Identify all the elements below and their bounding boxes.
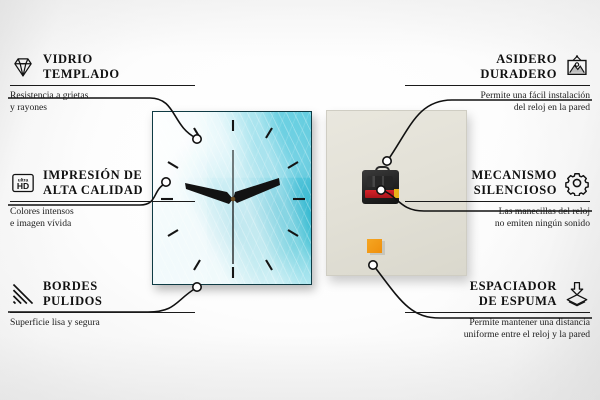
ultra-hd-large-label: HD [17,181,29,191]
feature-vidrio-templado[interactable]: VIDRIO TEMPLADO Resistencia a grietas y … [10,52,195,113]
feature-divider [405,312,590,313]
feature-divider [10,312,195,313]
clock-minute-hand [233,178,280,203]
wall-hanging-picture-icon [564,54,590,80]
feature-divider [10,85,195,86]
feature-asidero-duradero[interactable]: ASIDERO DURADERO Permite una fácil insta… [405,52,590,113]
battery [365,190,396,198]
feature-divider [10,201,195,202]
feature-title: ESPACIADOR DE ESPUMA [470,279,557,308]
feature-divider [405,85,590,86]
arrow-on-layers-icon [564,281,590,307]
feature-title: IMPRESIÓN DE ALTA CALIDAD [43,168,143,197]
gear-icon [564,170,590,196]
mechanism-detail [367,176,393,187]
feature-title: ASIDERO DURADERO [480,52,557,81]
feature-espaciador-de-espuma[interactable]: ESPACIADOR DE ESPUMA Permite mantener un… [405,279,590,340]
feature-title: MECANISMO SILENCIOSO [471,168,557,197]
feature-divider [405,201,590,202]
feature-impresion-alta-calidad[interactable]: ultra HD IMPRESIÓN DE ALTA CALIDAD Color… [10,168,195,229]
clock-center-cap [231,197,236,202]
feature-description: Permite mantener una distancia uniforme … [405,317,590,340]
feature-bordes-pulidos[interactable]: BORDES PULIDOS Superficie lisa y segura [10,279,195,329]
feature-description: Permite una fácil instalación del reloj … [405,90,590,113]
feature-header: ASIDERO DURADERO [405,52,590,81]
feature-description: Superficie lisa y segura [10,317,195,329]
feature-description: Colores intensos e imagen vívida [10,206,195,229]
feature-description: Las manecillas del reloj no emiten ningú… [405,206,590,229]
foam-spacer [367,239,382,253]
diamond-icon [10,54,36,80]
quartz-mechanism [362,166,399,204]
feature-header: MECANISMO SILENCIOSO [405,168,590,197]
feature-mecanismo-silencioso[interactable]: MECANISMO SILENCIOSO Las manecillas del … [405,168,590,229]
feature-header: BORDES PULIDOS [10,279,195,308]
ultra-hd-icon: ultra HD [10,170,36,196]
feature-description: Resistencia a grietas y rayones [10,90,195,113]
beveled-edge-icon [10,281,36,307]
battery-terminal [394,189,399,198]
feature-header: ultra HD IMPRESIÓN DE ALTA CALIDAD [10,168,195,197]
feature-title: BORDES PULIDOS [43,279,102,308]
feature-title: VIDRIO TEMPLADO [43,52,120,81]
feature-header: VIDRIO TEMPLADO [10,52,195,81]
infographic-canvas: VIDRIO TEMPLADO Resistencia a grietas y … [0,0,600,400]
feature-header: ESPACIADOR DE ESPUMA [405,279,590,308]
